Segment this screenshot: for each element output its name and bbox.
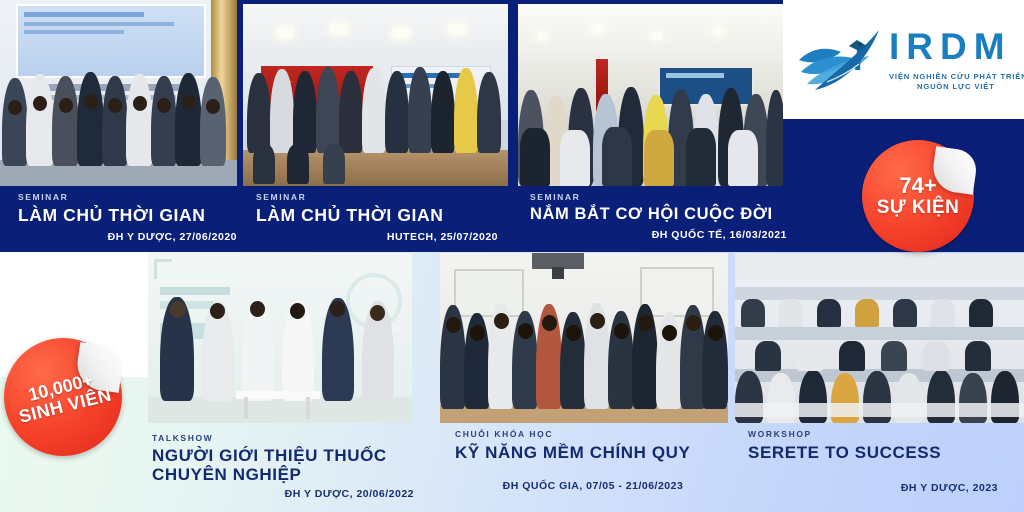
logo-subtitle-line1: VIỆN NGHIÊN CỨU PHÁT TRIỂN: [889, 72, 1024, 81]
caption-event-4: TALKSHOW NGƯỜI GIỚI THIỆU THUỐC CHUYÊN N…: [152, 434, 420, 500]
event-4-title-line2: CHUYÊN NGHIỆP: [152, 466, 420, 484]
badge-events-value: 74+: [899, 174, 936, 197]
event-1-title: LÀM CHỦ THỜI GIAN: [18, 206, 243, 225]
caption-event-3: SEMINAR NẮM BẮT CƠ HỘI CUỘC ĐỜI ĐH QUỐC …: [530, 193, 790, 241]
event-photo-4: [148, 253, 412, 423]
event-photo-2: [243, 4, 508, 186]
event-5-meta: ĐH QUỐC GIA, 07/05 - 21/06/2023: [455, 480, 731, 492]
logo-wordmark: IRDM: [889, 28, 1012, 65]
caption-event-6: WORKSHOP SERETE TO SUCCESS ĐH Y DƯỢC, 20…: [748, 430, 1016, 494]
event-3-meta: ĐH QUỐC TẾ, 16/03/2021: [530, 229, 790, 241]
event-6-kicker: WORKSHOP: [748, 430, 1016, 439]
logo-subtitle-line2: NGUỒN LỰC VIỆT: [917, 82, 995, 91]
caption-event-5: CHUỖI KHÓA HỌC KỸ NĂNG MỀM CHÍNH QUY ĐH …: [455, 430, 731, 492]
event-1-kicker: SEMINAR: [18, 193, 243, 202]
event-4-meta: ĐH Y DƯỢC, 20/06/2022: [152, 488, 420, 500]
bird-wing-logo-icon: [797, 26, 883, 96]
event-4-kicker: TALKSHOW: [152, 434, 420, 443]
irdm-logo[interactable]: IRDM VIỆN NGHIÊN CỨU PHÁT TRIỂN NGUỒN LỰ…: [797, 22, 1013, 100]
event-4-title-line1: NGƯỜI GIỚI THIỆU THUỐC: [152, 447, 420, 465]
event-6-meta: ĐH Y DƯỢC, 2023: [748, 482, 1016, 494]
badge-events-label: SỰ KIỆN: [877, 198, 960, 218]
event-photo-3: [518, 4, 783, 186]
badge-students: 10,000+ SINH VIÊN: [4, 338, 122, 456]
event-3-title: NẮM BẮT CƠ HỘI CUỘC ĐỜI: [530, 206, 790, 223]
event-6-title: SERETE TO SUCCESS: [748, 444, 1016, 462]
event-5-title: KỸ NĂNG MỀM CHÍNH QUY: [455, 444, 731, 462]
event-5-kicker: CHUỖI KHÓA HỌC: [455, 430, 731, 439]
event-1-meta: ĐH Y DƯỢC, 27/06/2020: [18, 231, 243, 243]
caption-event-1: SEMINAR LÀM CHỦ THỜI GIAN ĐH Y DƯỢC, 27/…: [18, 193, 243, 243]
event-2-kicker: SEMINAR: [256, 193, 506, 202]
collage-canvas: SEMINAR LÀM CHỦ THỜI GIAN ĐH Y DƯỢC, 27/…: [0, 0, 1024, 512]
caption-event-2: SEMINAR LÀM CHỦ THỜI GIAN HUTECH, 25/07/…: [256, 193, 506, 243]
event-3-kicker: SEMINAR: [530, 193, 790, 202]
event-photo-6: [735, 253, 1024, 423]
event-photo-5: [440, 253, 728, 423]
event-2-meta: HUTECH, 25/07/2020: [256, 231, 506, 243]
event-2-title: LÀM CHỦ THỜI GIAN: [256, 206, 506, 225]
badge-events: 74+ SỰ KIỆN: [862, 140, 974, 252]
event-photo-1: [0, 0, 237, 186]
